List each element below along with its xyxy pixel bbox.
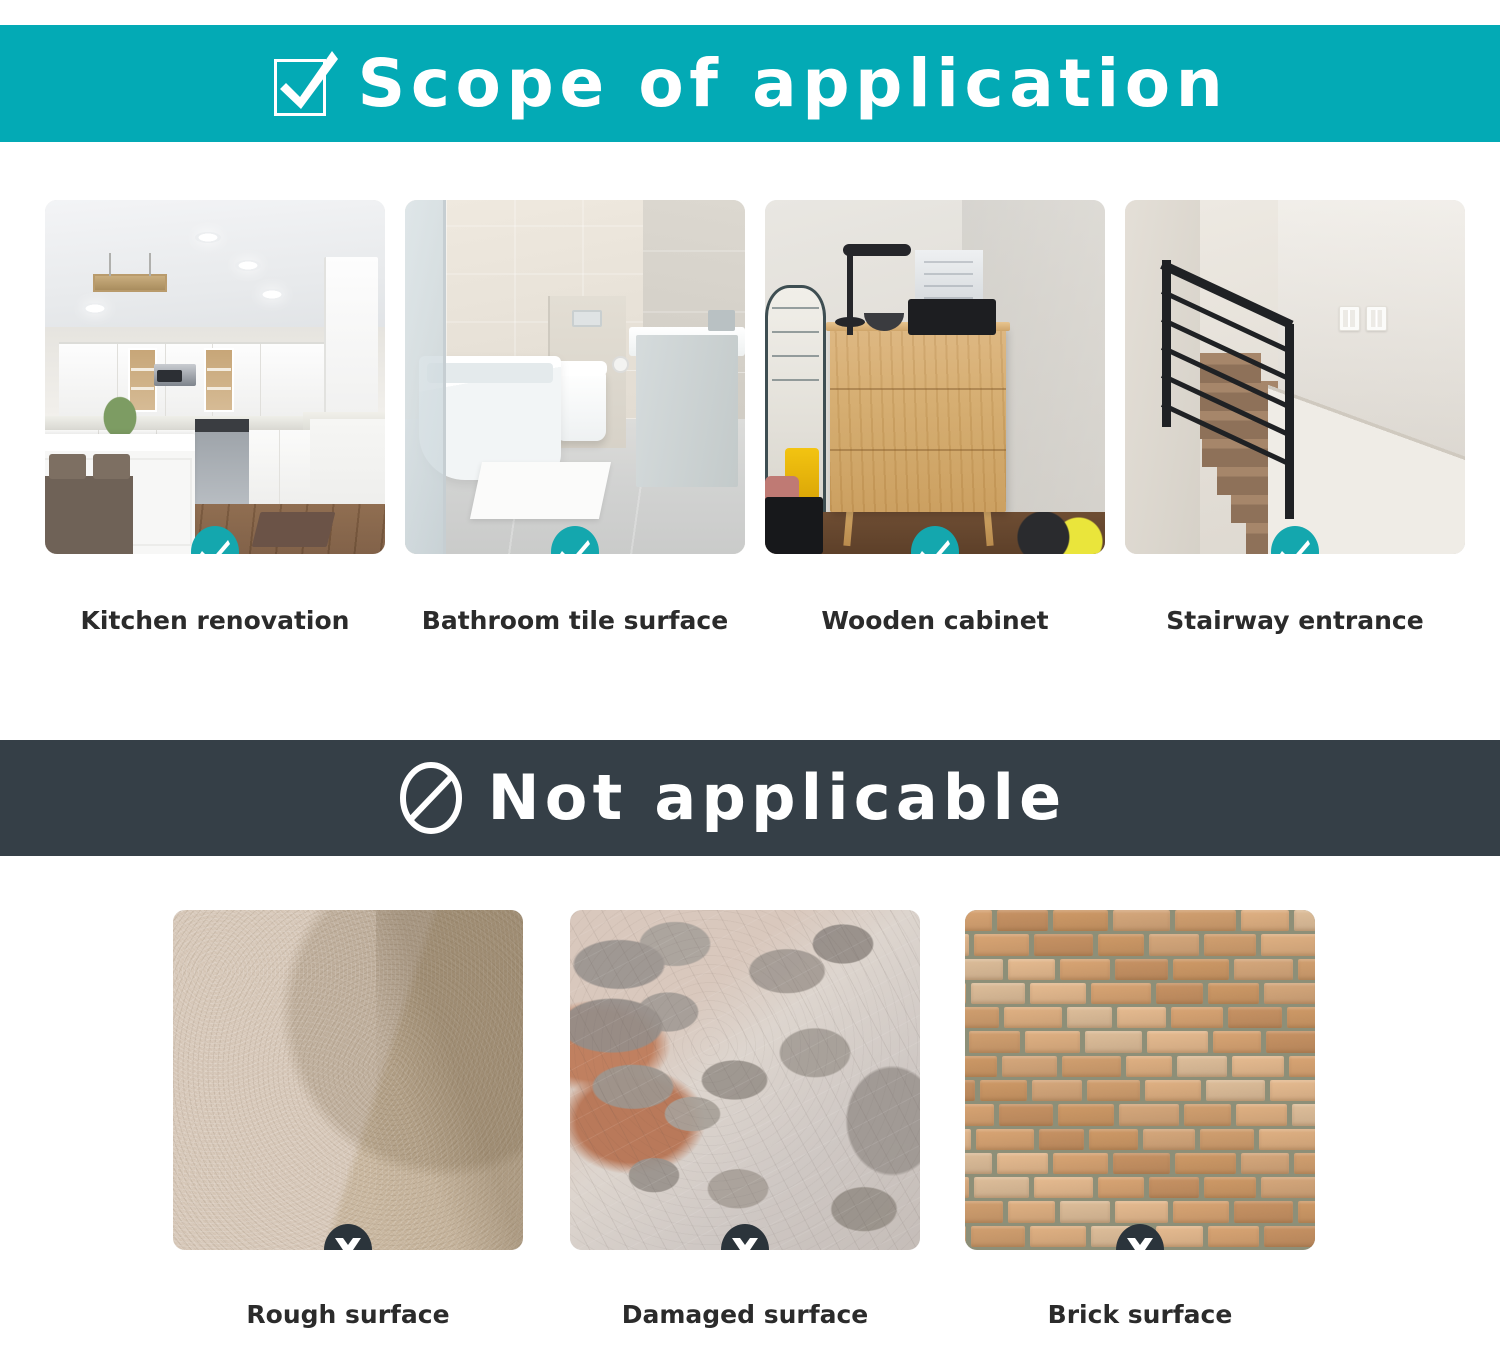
scope-caption-bathroom: Bathroom tile surface bbox=[422, 606, 728, 635]
kitchen-renovation-image bbox=[45, 200, 385, 554]
scope-card-kitchen[interactable]: Kitchen renovation bbox=[45, 200, 385, 635]
na-caption-damaged-surface: Damaged surface bbox=[622, 1300, 869, 1329]
na-caption-brick-surface: Brick surface bbox=[1048, 1300, 1233, 1329]
rough-surface-image bbox=[173, 910, 523, 1250]
scope-of-application-banner: Scope of application bbox=[0, 25, 1500, 142]
scope-caption-cabinet: Wooden cabinet bbox=[821, 606, 1048, 635]
na-card-brick-surface[interactable]: Brick surface bbox=[965, 910, 1315, 1329]
scope-card-cabinet[interactable]: Wooden cabinet bbox=[765, 200, 1105, 635]
na-caption-rough-surface: Rough surface bbox=[246, 1300, 449, 1329]
infographic-page: Scope of application bbox=[0, 0, 1500, 1372]
not-applicable-items-row: Rough surface Damaged surface bbox=[0, 910, 1500, 1329]
not-applicable-banner: Not applicable bbox=[0, 740, 1500, 856]
na-card-rough-surface[interactable]: Rough surface bbox=[173, 910, 523, 1329]
checked-checkbox-icon bbox=[272, 51, 334, 117]
stairway-entrance-image bbox=[1125, 200, 1465, 554]
wooden-cabinet-image bbox=[765, 200, 1105, 554]
damaged-surface-image bbox=[570, 910, 920, 1250]
scope-caption-stairway: Stairway entrance bbox=[1166, 606, 1423, 635]
na-card-damaged-surface[interactable]: Damaged surface bbox=[570, 910, 920, 1329]
light-switch-icon bbox=[1366, 306, 1386, 331]
scope-card-stairway[interactable]: Stairway entrance bbox=[1125, 200, 1465, 635]
light-switch-icon bbox=[1339, 306, 1359, 331]
scope-card-bathroom[interactable]: Bathroom tile surface bbox=[405, 200, 745, 635]
scope-items-row: Kitchen renovation bbox=[0, 200, 1500, 635]
prohibition-icon bbox=[398, 762, 464, 834]
bathroom-tile-surface-image bbox=[405, 200, 745, 554]
scope-caption-kitchen: Kitchen renovation bbox=[81, 606, 350, 635]
scope-banner-title: Scope of application bbox=[358, 51, 1229, 117]
not-applicable-banner-title: Not applicable bbox=[488, 767, 1067, 829]
brick-surface-image bbox=[965, 910, 1315, 1250]
